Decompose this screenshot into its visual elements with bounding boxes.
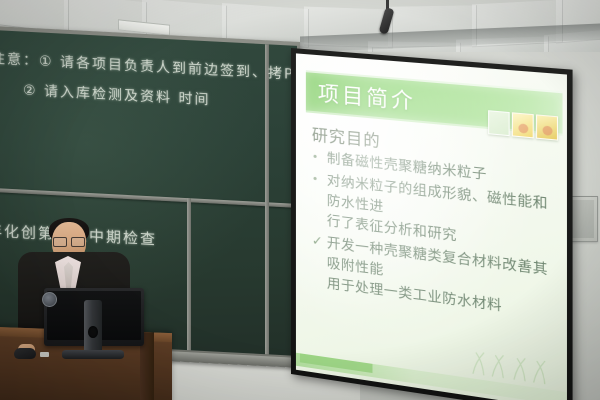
- decoration-thumbnail-icon: [512, 112, 534, 138]
- bullet-dot-icon: •: [312, 169, 327, 191]
- decoration-thumbnail-icon: [536, 114, 558, 140]
- computer-mouse[interactable]: [14, 348, 36, 359]
- projection-screen-surface: 项目简介 研究目的 • 制备磁性壳聚糖纳米粒子 •: [296, 53, 567, 400]
- blackboard-divider-vertical: [265, 44, 269, 356]
- desk-small-object: [40, 352, 49, 357]
- checkmark-icon: ✓: [312, 231, 327, 253]
- dell-logo-icon: [42, 292, 57, 307]
- slide-bullet-list: • 制备磁性壳聚糖纳米粒子 • 对纳米粒子的组成形貌、磁性能和防水性进 行了表征…: [312, 147, 556, 326]
- eyeglass-lens: [71, 237, 85, 247]
- slide-decoration-thumbnails: [488, 110, 558, 140]
- monitor-stand-cable-hole: [88, 326, 98, 338]
- bullet-dot-icon: •: [312, 147, 327, 169]
- chalk-text-line-1: 注意：① 请各项目负责人到前边签到、拷PPT: [0, 48, 297, 85]
- eyeglass-lens: [53, 237, 67, 247]
- presentation-slide: 项目简介 研究目的 • 制备磁性壳聚糖纳米粒子 •: [296, 53, 567, 400]
- eyeglasses-icon: [53, 237, 85, 245]
- blackboard-divider-vertical: [187, 198, 191, 356]
- projection-screen: 项目简介 研究目的 • 制备磁性壳聚糖纳米粒子 •: [291, 48, 573, 400]
- chalk-text-line-2: ② 请入库检测及资料 时间: [23, 80, 210, 110]
- decoration-thumbnail-icon: [488, 110, 510, 136]
- classroom-scene: 注意：① 请各项目负责人到前边签到、拷PPT ② 请入库检测及资料 时间 年化创…: [0, 0, 600, 400]
- blackboard-divider-horizontal: [0, 188, 297, 208]
- monitor-base: [62, 350, 124, 359]
